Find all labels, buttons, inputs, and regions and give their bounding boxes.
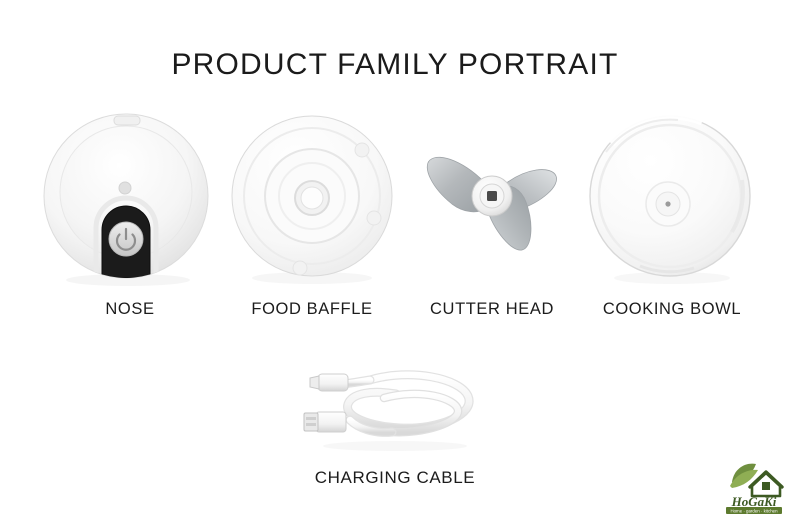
product-image-nose bbox=[40, 108, 220, 288]
leaf-house-icon: HoGaKi Home · garden · kitchen bbox=[722, 456, 786, 512]
blender-motor-base-icon bbox=[40, 108, 220, 288]
product-label-row: NOSE FOOD BAFFLE CUTTER HEAD COOKING BOW… bbox=[0, 300, 790, 326]
food-baffle-disc-icon bbox=[222, 108, 402, 288]
product-family-poster: PRODUCT FAMILY PORTRAIT bbox=[0, 0, 790, 519]
page-title: PRODUCT FAMILY PORTRAIT bbox=[0, 48, 790, 82]
product-label-cutter-head: CUTTER HEAD bbox=[402, 300, 582, 319]
product-image-charging-cable bbox=[300, 358, 490, 453]
micro-usb-connector bbox=[310, 374, 348, 391]
product-label-cooking-bowl: COOKING BOWL bbox=[582, 300, 762, 319]
product-image-food-baffle bbox=[222, 108, 402, 288]
usb-a-connector bbox=[304, 412, 346, 432]
cutter-blade-icon bbox=[402, 108, 582, 288]
product-row bbox=[0, 108, 790, 288]
product-label-nose: NOSE bbox=[40, 300, 220, 319]
cooking-bowl-icon bbox=[582, 108, 762, 288]
usb-charging-cable-icon bbox=[300, 358, 490, 453]
product-image-cutter-head bbox=[402, 108, 582, 288]
brand-logo: HoGaKi Home · garden · kitchen bbox=[722, 456, 786, 512]
product-label-food-baffle: FOOD BAFFLE bbox=[222, 300, 402, 319]
brand-wordmark: HoGaKi bbox=[731, 494, 777, 509]
brand-tagline: Home · garden · kitchen bbox=[730, 508, 778, 513]
product-image-cooking-bowl bbox=[582, 108, 762, 288]
product-label-charging-cable: CHARGING CABLE bbox=[245, 468, 545, 488]
